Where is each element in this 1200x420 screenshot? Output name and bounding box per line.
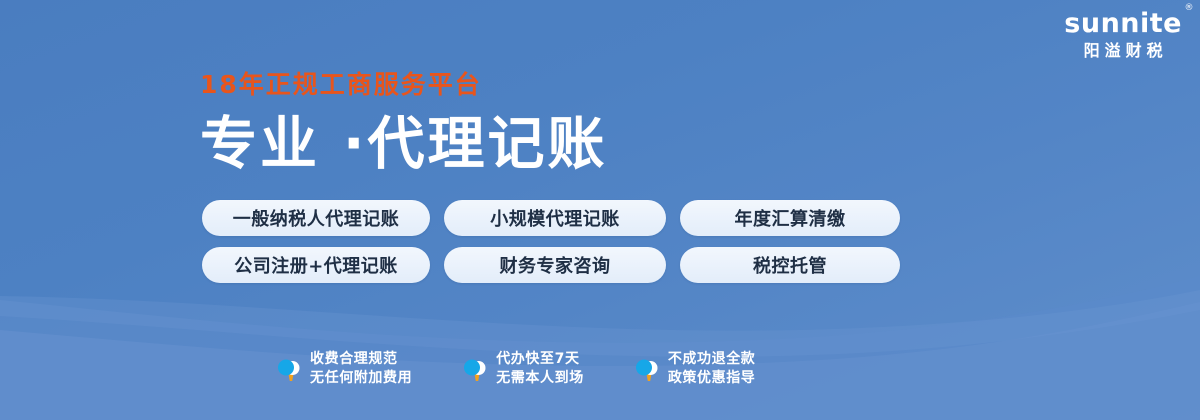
service-pill[interactable]: 小规模代理记账	[444, 200, 666, 236]
logo-wordmark-text: sunnite	[1064, 8, 1182, 39]
feature-line-2: 政策优惠指导	[668, 369, 756, 388]
feature-line-2: 无任何附加费用	[310, 369, 412, 388]
logo-chinese-name: 阳溢财税	[1064, 44, 1182, 60]
feature-strip: 收费合理规范 无任何附加费用 代办快至7天 无需本人到场 不成功退全款	[275, 350, 755, 388]
feature-item: 代办快至7天 无需本人到场	[461, 350, 584, 388]
hero-text-block: 18年正规工商服务平台 专业 ·代理记账	[200, 72, 608, 175]
feature-line-1: 收费合理规范	[310, 350, 412, 369]
registered-trademark-icon: ®	[1185, 4, 1195, 13]
service-pill-grid: 一般纳税人代理记账 小规模代理记账 年度汇算清缴 公司注册+代理记账 财务专家咨…	[202, 200, 900, 283]
service-pill[interactable]: 税控托管	[680, 247, 900, 283]
badge-icon	[461, 354, 487, 384]
feature-text: 代办快至7天 无需本人到场	[496, 350, 584, 388]
service-pill[interactable]: 财务专家咨询	[444, 247, 666, 283]
badge-icon	[633, 354, 659, 384]
feature-text: 收费合理规范 无任何附加费用	[310, 350, 412, 388]
promo-banner: sunnite ® 阳溢财税 18年正规工商服务平台 专业 ·代理记账 一般纳税…	[0, 0, 1200, 420]
brand-logo[interactable]: sunnite ® 阳溢财税	[1064, 10, 1182, 60]
service-pill[interactable]: 公司注册+代理记账	[202, 247, 430, 283]
service-pill[interactable]: 年度汇算清缴	[680, 200, 900, 236]
hero-eyebrow: 18年正规工商服务平台	[200, 72, 608, 97]
feature-text: 不成功退全款 政策优惠指导	[668, 350, 756, 388]
badge-icon	[275, 354, 301, 384]
page-title: 专业 ·代理记账	[200, 115, 608, 175]
feature-item: 收费合理规范 无任何附加费用	[275, 350, 412, 388]
feature-line-1: 不成功退全款	[668, 350, 756, 369]
feature-line-2: 无需本人到场	[496, 369, 584, 388]
feature-item: 不成功退全款 政策优惠指导	[633, 350, 756, 388]
feature-line-1: 代办快至7天	[496, 350, 584, 369]
service-pill[interactable]: 一般纳税人代理记账	[202, 200, 430, 236]
logo-wordmark: sunnite ®	[1064, 10, 1182, 37]
